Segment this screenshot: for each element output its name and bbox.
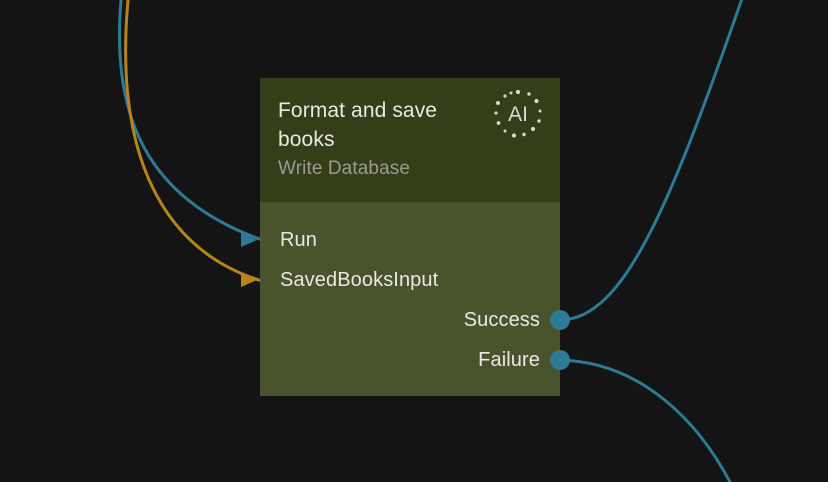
edge-out-failure xyxy=(560,360,735,482)
node-format-and-save-books[interactable]: Format and save books Write Database xyxy=(260,78,560,396)
port-label-run: Run xyxy=(280,226,317,254)
port-dot-success-icon[interactable] xyxy=(550,310,570,330)
port-label-failure: Failure xyxy=(478,346,540,374)
port-row-saved-books-input[interactable]: SavedBooksInput xyxy=(260,266,560,294)
port-row-failure[interactable]: Failure xyxy=(260,346,560,374)
edge-out-success xyxy=(560,0,745,320)
port-arrow-run-icon[interactable] xyxy=(240,229,262,251)
node-body: Run SavedBooksInput Success Failure xyxy=(260,202,560,396)
edge-in-run xyxy=(119,0,262,240)
ai-sparkle-icon: AI xyxy=(490,87,546,143)
node-header[interactable]: Format and save books Write Database xyxy=(260,78,560,202)
port-dot-failure-icon[interactable] xyxy=(550,350,570,370)
port-row-run[interactable]: Run xyxy=(260,226,560,254)
node-subtitle: Write Database xyxy=(278,156,542,182)
port-arrow-saved-books-input-icon[interactable] xyxy=(240,269,262,291)
node-graph-canvas[interactable]: Format and save books Write Database xyxy=(0,0,828,482)
node-title: Format and save books xyxy=(278,96,478,154)
port-row-success[interactable]: Success xyxy=(260,306,560,334)
port-label-success: Success xyxy=(464,306,540,334)
port-label-saved-books-input: SavedBooksInput xyxy=(280,266,438,294)
svg-text:AI: AI xyxy=(508,103,528,126)
